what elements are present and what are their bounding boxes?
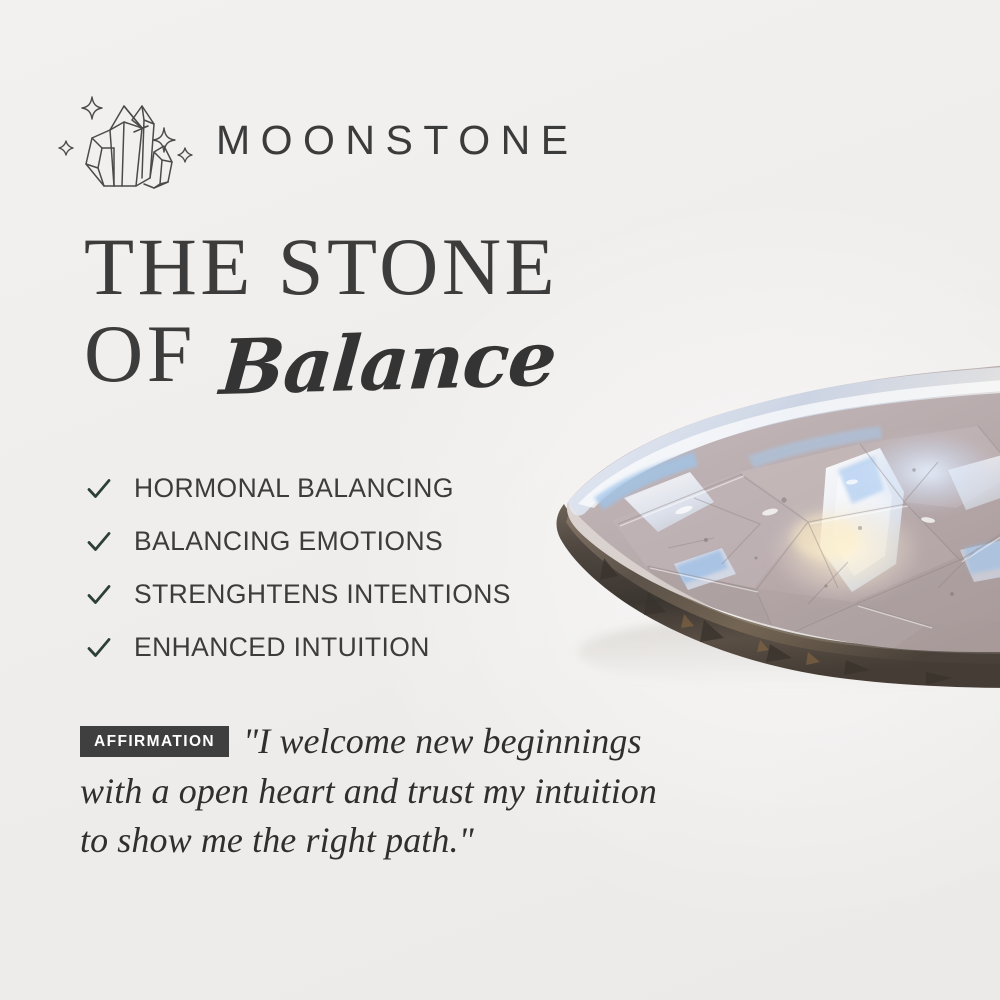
status-badge: AFFIRMATION <box>80 726 229 757</box>
check-icon <box>86 529 112 555</box>
stone-edge-highlight <box>566 510 1000 664</box>
stone-body <box>508 352 1000 672</box>
affirmation-block: AFFIRMATION"I welcome new beginnings wit… <box>80 718 740 865</box>
benefit-label: STRENGHTENS INTENTIONS <box>134 579 511 610</box>
list-item: HORMONAL BALANCING <box>86 462 556 515</box>
benefits-list: HORMONAL BALANCING BALANCING EMOTIONS ST… <box>86 462 556 674</box>
affirmation-line-2: with a open heart and trust my intuition <box>80 768 740 816</box>
benefit-label: ENHANCED INTUITION <box>134 632 430 663</box>
brand-logo: MOONSTONE <box>58 86 579 190</box>
affirmation-line-1: "I welcome new beginnings <box>243 721 642 761</box>
check-icon <box>86 476 112 502</box>
stone-raw-edge <box>557 504 1000 688</box>
stone-bright-crystal <box>820 448 904 592</box>
headline-of: OF <box>84 315 196 394</box>
list-item: STRENGHTENS INTENTIONS <box>86 568 556 621</box>
stone-shadow <box>578 616 1000 688</box>
crystal-cluster-icon <box>58 86 210 190</box>
headline-line-1: THE STONE <box>84 228 724 307</box>
stone-inclusions <box>704 468 954 596</box>
stone-rust-flecks <box>681 614 820 665</box>
list-item: BALANCING EMOTIONS <box>86 515 556 568</box>
stone-cool-glow <box>858 432 998 512</box>
sparkle-large-icon <box>82 97 102 119</box>
sparkle-right-large-icon <box>153 128 175 152</box>
sparkle-small-icon <box>59 141 73 155</box>
stone-fractures <box>618 426 1000 640</box>
sparkle-right-small-icon <box>178 148 192 162</box>
benefit-label: BALANCING EMOTIONS <box>134 526 443 557</box>
stone-warm-glow <box>768 498 924 602</box>
headline-script-balance: Balance <box>218 328 558 400</box>
stone-chips <box>600 558 952 685</box>
headline-line-2: OF Balance <box>84 315 724 394</box>
moonstone-illustration <box>508 352 1000 752</box>
moonstone-slab-photo <box>508 352 1000 752</box>
poster-canvas: MOONSTONE THE STONE OF Balance HORMONAL … <box>0 0 1000 1000</box>
benefit-label: HORMONAL BALANCING <box>134 473 454 504</box>
list-item: ENHANCED INTUITION <box>86 621 556 674</box>
check-icon <box>86 635 112 661</box>
brand-wordmark: MOONSTONE <box>216 116 579 161</box>
page-title: THE STONE OF Balance <box>84 228 724 393</box>
check-icon <box>86 582 112 608</box>
affirmation-line-3: to show me the right path." <box>80 817 740 865</box>
